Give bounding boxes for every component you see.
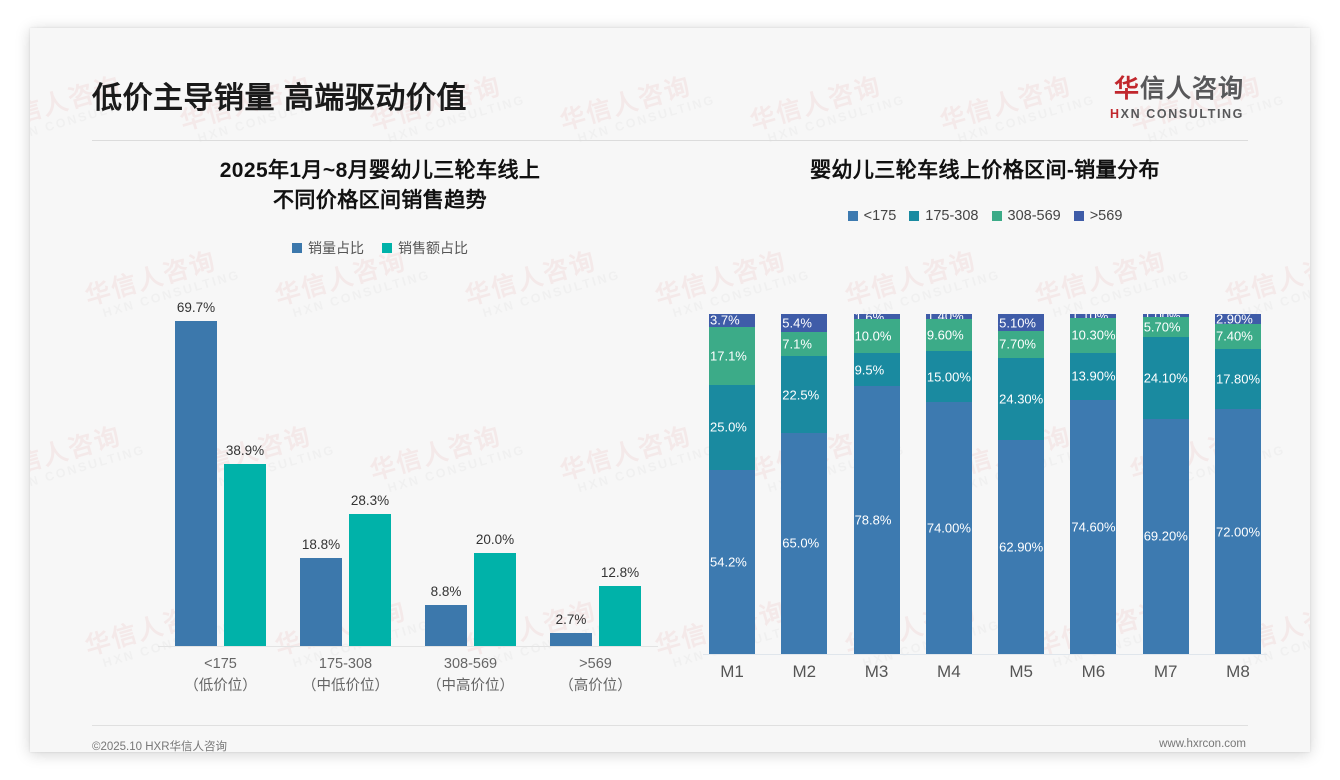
legend-label: 308-569 bbox=[1008, 208, 1061, 224]
stacked-bar-M6[interactable]: 1.10%10.30%13.90%74.60% bbox=[1070, 314, 1116, 654]
stack-segment-value-label: 17.1% bbox=[710, 348, 747, 363]
bar-value-label: 38.9% bbox=[226, 443, 264, 458]
stack-segment-175-308-M1: 25.0% bbox=[709, 385, 755, 470]
stack-segment-308-569-M3: 10.0% bbox=[854, 319, 900, 353]
stack-segment-value-label: 10.30% bbox=[1071, 328, 1115, 343]
stack-segment-value-label: 9.5% bbox=[855, 362, 885, 377]
legend-swatch-icon bbox=[909, 211, 919, 221]
legend-swatch-icon bbox=[382, 243, 392, 253]
stack-segment-<175-M1: 54.2% bbox=[709, 470, 755, 654]
right-stacked-bar-chart: 3.7%17.1%25.0%54.2%5.4%7.1%22.5%65.0%1.6… bbox=[695, 296, 1275, 716]
x-axis-label-range: >569 bbox=[541, 654, 651, 676]
bar-group-175-308: 18.8%28.3% bbox=[291, 296, 401, 646]
x-axis-label-tier: （中高价位） bbox=[416, 676, 526, 698]
x-axis-label-308-569: 308-569（中高价位） bbox=[416, 654, 526, 698]
left-chart-axis bbox=[158, 646, 658, 647]
logo-chinese: 华信人咨询 bbox=[1110, 76, 1244, 104]
header-divider bbox=[92, 140, 1248, 141]
stack-segment-value-label: 25.0% bbox=[710, 420, 747, 435]
stack-segment-value-label: 5.10% bbox=[999, 315, 1036, 330]
left-chart-title-line1: 2025年1月~8月婴幼儿三轮车线上 bbox=[70, 156, 690, 186]
stacked-bar-M1[interactable]: 3.7%17.1%25.0%54.2% bbox=[709, 314, 755, 654]
legend-item-销售额占比[interactable]: 销售额占比 bbox=[382, 238, 468, 258]
stack-segment-value-label: 7.1% bbox=[782, 337, 812, 352]
stack-segment-value-label: 7.70% bbox=[999, 337, 1036, 352]
x-axis-label-M3: M3 bbox=[854, 662, 900, 682]
stack-segment-175-308-M6: 13.90% bbox=[1070, 353, 1116, 400]
x-axis-label-M5: M5 bbox=[998, 662, 1044, 682]
footer-copyright: ©2025.10 HXR华信人咨询 bbox=[92, 738, 227, 752]
left-chart-title: 2025年1月~8月婴幼儿三轮车线上 不同价格区间销售趋势 bbox=[70, 156, 690, 216]
stacked-bar-M2[interactable]: 5.4%7.1%22.5%65.0% bbox=[781, 314, 827, 654]
right-chart-plot-area: 3.7%17.1%25.0%54.2%5.4%7.1%22.5%65.0%1.6… bbox=[709, 314, 1261, 654]
stack-segment-308-569-M4: 9.60% bbox=[926, 319, 972, 352]
legend-label: 175-308 bbox=[925, 208, 978, 224]
bar-rect bbox=[175, 321, 217, 646]
stack-segment-175-308-M2: 22.5% bbox=[781, 356, 827, 433]
stack-segment->569-M1: 3.7% bbox=[709, 314, 755, 327]
x-axis-label-M2: M2 bbox=[781, 662, 827, 682]
left-chart-legend: 销量占比销售额占比 bbox=[70, 238, 690, 258]
bar-rect bbox=[224, 464, 266, 646]
stack-segment-value-label: 24.30% bbox=[999, 391, 1043, 406]
stack-segment-value-label: 74.60% bbox=[1071, 519, 1115, 534]
stack-segment-<175-M8: 72.00% bbox=[1215, 409, 1261, 654]
bar-销量占比-308-569[interactable]: 8.8% bbox=[425, 296, 467, 646]
x-axis-label-M1: M1 bbox=[709, 662, 755, 682]
stacked-bar-M7[interactable]: 1.00%5.70%24.10%69.20% bbox=[1143, 314, 1189, 654]
x-axis-label-M6: M6 bbox=[1070, 662, 1116, 682]
bar-value-label: 8.8% bbox=[431, 584, 462, 599]
legend-label: 销量占比 bbox=[308, 238, 364, 258]
bar-销售额占比->569[interactable]: 12.8% bbox=[599, 296, 641, 646]
stack-segment-<175-M4: 74.00% bbox=[926, 402, 972, 654]
slide-canvas: 华信人咨询HXN CONSULTING华信人咨询HXN CONSULTING华信… bbox=[30, 28, 1310, 752]
logo-en-rest: XN CONSULTING bbox=[1121, 107, 1244, 121]
bar-销售额占比-<175[interactable]: 38.9% bbox=[224, 296, 266, 646]
stack-segment-value-label: 15.00% bbox=[927, 369, 971, 384]
brand-logo: 华信人咨询 HXN CONSULTING bbox=[1110, 76, 1244, 121]
bar-销售额占比-308-569[interactable]: 20.0% bbox=[474, 296, 516, 646]
legend-label: >569 bbox=[1090, 208, 1123, 224]
stack-segment-308-569-M1: 17.1% bbox=[709, 327, 755, 385]
stack-segment-<175-M6: 74.60% bbox=[1070, 400, 1116, 654]
stack-segment-308-569-M2: 7.1% bbox=[781, 332, 827, 356]
legend-item-销量占比[interactable]: 销量占比 bbox=[292, 238, 364, 258]
stack-segment-308-569-M6: 10.30% bbox=[1070, 318, 1116, 353]
stack-segment-value-label: 7.40% bbox=[1216, 329, 1253, 344]
stack-segment-value-label: 13.90% bbox=[1071, 369, 1115, 384]
stack-segment-value-label: 62.90% bbox=[999, 540, 1043, 555]
left-chart-plot-area: 69.7%38.9%18.8%28.3%8.8%20.0%2.7%12.8% bbox=[158, 296, 658, 646]
stack-segment-175-308-M7: 24.10% bbox=[1143, 337, 1189, 419]
stack-segment-value-label: 74.00% bbox=[927, 521, 971, 536]
stack-segment-175-308-M5: 24.30% bbox=[998, 358, 1044, 441]
stack-segment-value-label: 22.5% bbox=[782, 387, 819, 402]
stack-segment-<175-M5: 62.90% bbox=[998, 440, 1044, 654]
stack-segment-308-569-M5: 7.70% bbox=[998, 331, 1044, 357]
x-axis-label-M7: M7 bbox=[1143, 662, 1189, 682]
x-axis-label-tier: （低价位） bbox=[166, 676, 276, 698]
stacked-bar-M3[interactable]: 1.6%10.0%9.5%78.8% bbox=[854, 314, 900, 654]
stack-segment-175-308-M4: 15.00% bbox=[926, 351, 972, 402]
x-axis-label-range: <175 bbox=[166, 654, 276, 676]
x-axis-label-tier: （中低价位） bbox=[291, 676, 401, 698]
bar-销量占比->569[interactable]: 2.7% bbox=[550, 296, 592, 646]
left-chart-panel: 2025年1月~8月婴幼儿三轮车线上 不同价格区间销售趋势 销量占比销售额占比 … bbox=[70, 156, 690, 716]
stack-segment-value-label: 24.10% bbox=[1144, 370, 1188, 385]
stacked-bar-M5[interactable]: 5.10%7.70%24.30%62.90% bbox=[998, 314, 1044, 654]
stack-segment-<175-M3: 78.8% bbox=[854, 386, 900, 654]
bar-value-label: 12.8% bbox=[601, 565, 639, 580]
bar-销量占比-<175[interactable]: 69.7% bbox=[175, 296, 217, 646]
stack-segment->569-M2: 5.4% bbox=[781, 314, 827, 332]
x-axis-label-<175: <175（低价位） bbox=[166, 654, 276, 698]
logo-cn-red: 华 bbox=[1114, 75, 1140, 103]
stacked-bar-M4[interactable]: 1.40%9.60%15.00%74.00% bbox=[926, 314, 972, 654]
bar-group-<175: 69.7%38.9% bbox=[166, 296, 276, 646]
logo-en-red: H bbox=[1110, 107, 1121, 121]
right-chart-x-axis-labels: M1M2M3M4M5M6M7M8 bbox=[709, 662, 1261, 682]
stack-segment-value-label: 65.0% bbox=[782, 536, 819, 551]
footer-divider bbox=[92, 725, 1248, 726]
stack-segment-308-569-M7: 5.70% bbox=[1143, 317, 1189, 336]
slide-header: 低价主导销量 高端驱动价值 华信人咨询 HXN CONSULTING bbox=[30, 28, 1310, 120]
footer-website: www.hxrcon.com bbox=[1159, 738, 1246, 750]
bar-group-308-569: 8.8%20.0% bbox=[416, 296, 526, 646]
stack-segment-value-label: 10.0% bbox=[855, 329, 892, 344]
bar-销量占比-175-308[interactable]: 18.8% bbox=[300, 296, 342, 646]
stack-segment-value-label: 5.4% bbox=[782, 316, 812, 331]
stack-segment-175-308-M8: 17.80% bbox=[1215, 349, 1261, 409]
stack-segment-308-569-M8: 7.40% bbox=[1215, 324, 1261, 349]
x-axis-label-tier: （高价位） bbox=[541, 676, 651, 698]
stack-segment-value-label: 54.2% bbox=[710, 554, 747, 569]
legend-item->569[interactable]: >569 bbox=[1074, 208, 1123, 224]
bar-rect bbox=[599, 586, 641, 646]
stack-segment-value-label: 72.00% bbox=[1216, 524, 1260, 539]
bar-rect bbox=[300, 558, 342, 646]
stack-segment-value-label: 9.60% bbox=[927, 328, 964, 343]
left-chart-x-axis-labels: <175（低价位）175-308（中低价位）308-569（中高价位）>569（… bbox=[158, 654, 658, 698]
stack-segment-value-label: 78.8% bbox=[855, 512, 892, 527]
bar-value-label: 2.7% bbox=[556, 612, 587, 627]
x-axis-label-M8: M8 bbox=[1215, 662, 1261, 682]
bar-value-label: 28.3% bbox=[351, 493, 389, 508]
stack-segment-value-label: 5.70% bbox=[1144, 320, 1181, 335]
right-chart-panel: 婴幼儿三轮车线上价格区间-销量分布 <175175-308308-569>569… bbox=[695, 156, 1275, 716]
legend-item-175-308[interactable]: 175-308 bbox=[909, 208, 978, 224]
x-axis-label-range: 308-569 bbox=[416, 654, 526, 676]
right-chart-axis bbox=[703, 654, 1267, 655]
left-bar-chart: 69.7%38.9%18.8%28.3%8.8%20.0%2.7%12.8% <… bbox=[70, 296, 690, 716]
legend-swatch-icon bbox=[1074, 211, 1084, 221]
stack-segment->569-M8: 2.90% bbox=[1215, 314, 1261, 324]
page-title: 低价主导销量 高端驱动价值 bbox=[92, 84, 467, 114]
stack-segment->569-M5: 5.10% bbox=[998, 314, 1044, 331]
logo-cn-gray: 信人咨询 bbox=[1140, 75, 1244, 103]
stack-segment-<175-M7: 69.20% bbox=[1143, 419, 1189, 654]
stacked-bar-M8[interactable]: 2.90%7.40%17.80%72.00% bbox=[1215, 314, 1261, 654]
legend-swatch-icon bbox=[848, 211, 858, 221]
right-chart-title: 婴幼儿三轮车线上价格区间-销量分布 bbox=[695, 156, 1275, 186]
legend-item-<175[interactable]: <175 bbox=[848, 208, 897, 224]
right-chart-legend: <175175-308308-569>569 bbox=[695, 208, 1275, 224]
x-axis-label-175-308: 175-308（中低价位） bbox=[291, 654, 401, 698]
bar-rect bbox=[425, 605, 467, 646]
left-chart-title-line2: 不同价格区间销售趋势 bbox=[70, 186, 690, 216]
legend-label: <175 bbox=[864, 208, 897, 224]
x-axis-label-M4: M4 bbox=[926, 662, 972, 682]
bar-group->569: 2.7%12.8% bbox=[541, 296, 651, 646]
bar-rect bbox=[474, 553, 516, 646]
bar-value-label: 18.8% bbox=[302, 537, 340, 552]
x-axis-label-range: 175-308 bbox=[291, 654, 401, 676]
stack-segment-<175-M2: 65.0% bbox=[781, 433, 827, 654]
bar-销售额占比-175-308[interactable]: 28.3% bbox=[349, 296, 391, 646]
bar-value-label: 20.0% bbox=[476, 532, 514, 547]
legend-item-308-569[interactable]: 308-569 bbox=[992, 208, 1061, 224]
stack-segment-175-308-M3: 9.5% bbox=[854, 353, 900, 385]
bar-rect bbox=[349, 514, 391, 646]
legend-swatch-icon bbox=[992, 211, 1002, 221]
bar-value-label: 69.7% bbox=[177, 300, 215, 315]
legend-swatch-icon bbox=[292, 243, 302, 253]
logo-english: HXN CONSULTING bbox=[1110, 107, 1244, 121]
stack-segment-value-label: 69.20% bbox=[1144, 529, 1188, 544]
bar-rect bbox=[550, 633, 592, 646]
legend-label: 销售额占比 bbox=[398, 238, 468, 258]
x-axis-label->569: >569（高价位） bbox=[541, 654, 651, 698]
stack-segment-value-label: 17.80% bbox=[1216, 372, 1260, 387]
